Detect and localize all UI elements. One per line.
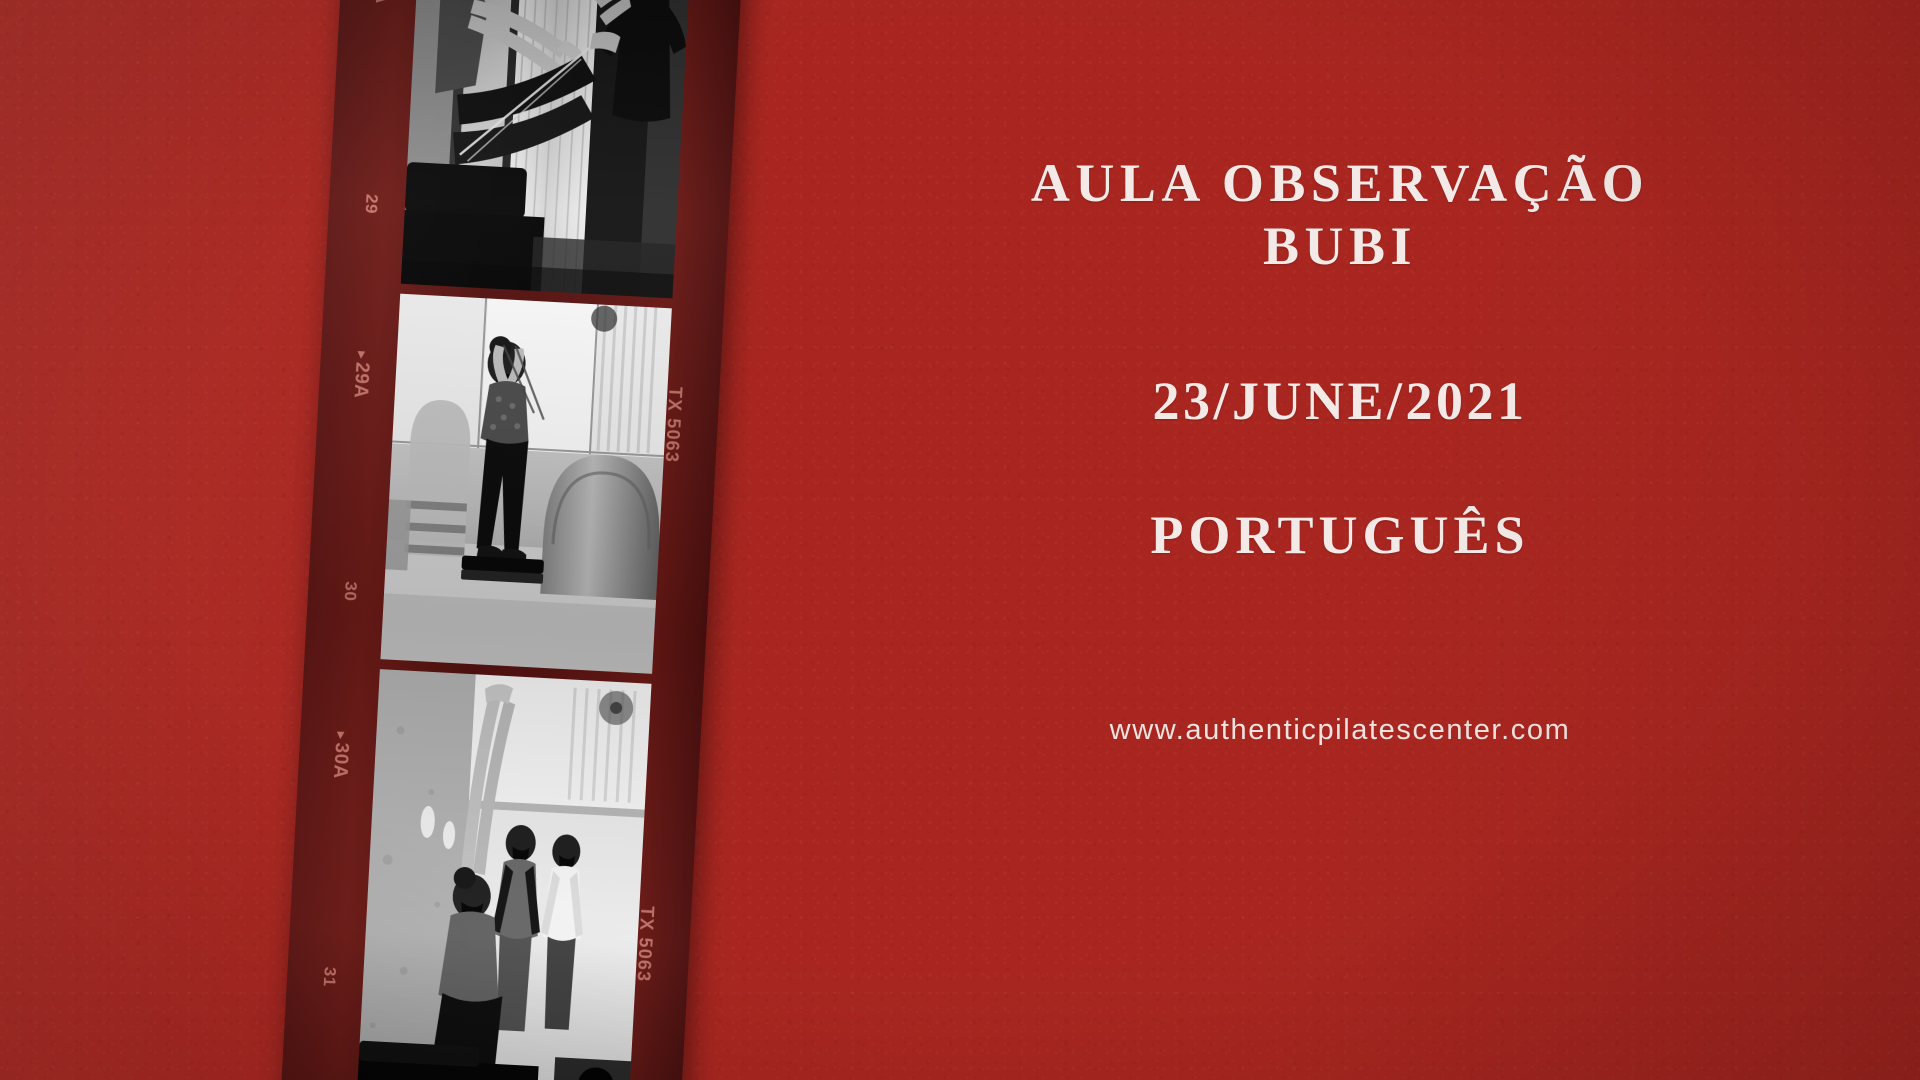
film-edge-mark-30a: ▼30A (328, 727, 353, 780)
filmstrip-frame-3 (357, 669, 652, 1080)
title-line-2: BUBI (1031, 215, 1649, 278)
photo-pilates-overhead-reach (357, 669, 652, 1080)
filmstrip: ▼28A 29 ▼29A 30 ▼30A 31 (276, 0, 744, 1080)
film-edge-mark-31: 31 (319, 966, 340, 987)
film-edge-mark-30: 30 (340, 581, 361, 602)
film-stock-mark-2: TX 5063 (660, 386, 685, 463)
film-edge-mark-29a: ▼29A (349, 346, 374, 399)
triangle-icon: ▼ (354, 347, 368, 363)
film-edge-mark-29: 29 (361, 193, 382, 214)
event-date: 23/JUNE/2021 (1152, 370, 1527, 432)
film-edge-mark-28a: ▼28A (370, 0, 395, 5)
triangle-icon: ▼ (334, 727, 348, 743)
poster-canvas: ▼28A 29 ▼29A 30 ▼30A 31 (0, 0, 1920, 1080)
photo-pilates-standing (380, 294, 671, 674)
title-line-1: AULA OBSERVAÇÃO (1031, 152, 1649, 215)
event-title: AULA OBSERVAÇÃO BUBI (1031, 152, 1649, 278)
website-url: www.authenticpilatescenter.com (1110, 714, 1571, 747)
poster-copy: AULA OBSERVAÇÃO BUBI 23/JUNE/2021 PORTUG… (760, 0, 1920, 1080)
event-language: PORTUGUÊS (1150, 504, 1529, 566)
film-stock-mark-3: TX 5063 (632, 905, 657, 982)
filmstrip-frame-1 (401, 0, 695, 298)
photo-pilates-reformer (401, 0, 695, 298)
filmstrip-frame-2 (380, 294, 671, 674)
